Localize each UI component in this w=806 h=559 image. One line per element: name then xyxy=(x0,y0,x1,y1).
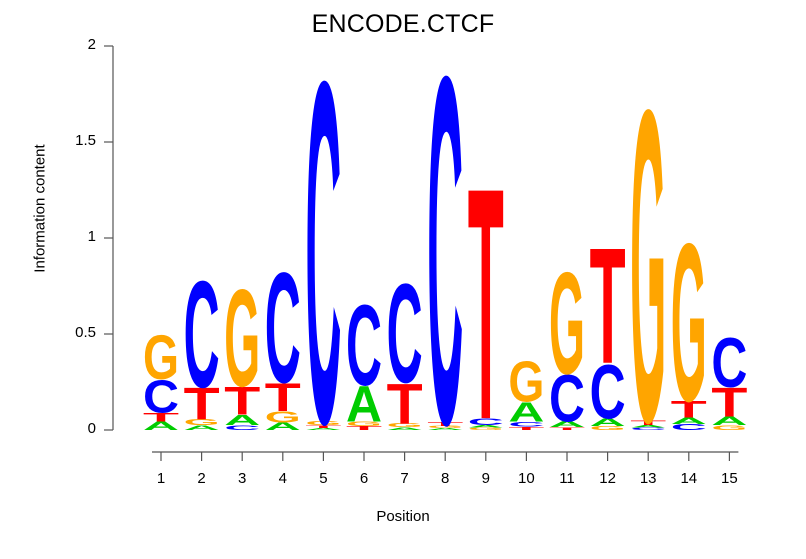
svg-text:G: G xyxy=(224,261,260,416)
svg-text:T: T xyxy=(468,119,504,489)
svg-text:G: G xyxy=(549,243,585,405)
logo-letter-c: C xyxy=(265,240,301,415)
y-tick-label: 1 xyxy=(50,228,96,245)
x-tick-label: 9 xyxy=(466,470,506,487)
logo-letter-g: G xyxy=(143,322,179,393)
logo-letter-t: T xyxy=(590,213,626,398)
svg-text:C: C xyxy=(346,281,382,409)
x-tick-label: 13 xyxy=(628,470,668,487)
logo-letter-g: G xyxy=(630,18,666,515)
svg-text:C: C xyxy=(305,0,341,525)
x-tick-label: 1 xyxy=(141,470,181,487)
x-tick-label: 10 xyxy=(506,470,546,487)
logo-letter-c: C xyxy=(346,281,382,409)
x-tick-label: 5 xyxy=(303,470,343,487)
logo-letter-g: G xyxy=(671,196,707,448)
x-tick-label: 2 xyxy=(182,470,222,487)
svg-text:C: C xyxy=(387,254,423,412)
x-tick-label: 12 xyxy=(588,470,628,487)
y-tick-label: 2 xyxy=(50,36,96,53)
svg-text:C: C xyxy=(265,240,301,415)
logo-stacks: ATCGAGTCCATGAGTCATGCTGACAGTCAGTCGACTTCAG… xyxy=(143,0,747,527)
svg-text:C: C xyxy=(184,251,220,420)
logo-letter-g: G xyxy=(224,261,260,416)
x-tick-label: 3 xyxy=(222,470,262,487)
logo-letter-g: G xyxy=(549,243,585,405)
logo-letter-c: C xyxy=(305,0,341,525)
x-tick-label: 7 xyxy=(385,470,425,487)
y-tick-label: 0 xyxy=(50,420,96,437)
svg-text:G: G xyxy=(671,196,707,448)
svg-text:G: G xyxy=(630,18,666,515)
x-tick-label: 8 xyxy=(425,470,465,487)
logo-letter-c: C xyxy=(387,254,423,412)
logo-letter-c: C xyxy=(184,251,220,420)
logo-letter-c: C xyxy=(427,0,463,527)
x-tick-label: 15 xyxy=(709,470,749,487)
svg-text:T: T xyxy=(590,213,626,398)
logo-letter-c: C xyxy=(711,324,747,402)
svg-text:G: G xyxy=(143,322,179,393)
x-tick-label: 6 xyxy=(344,470,384,487)
x-tick-label: 4 xyxy=(263,470,303,487)
svg-text:C: C xyxy=(427,0,463,527)
x-tick-label: 11 xyxy=(547,470,587,487)
logo-letter-g: G xyxy=(508,350,544,414)
svg-text:C: C xyxy=(711,324,747,402)
y-tick-label: 1.5 xyxy=(50,132,96,149)
x-tick-label: 14 xyxy=(669,470,709,487)
logo-letter-t: T xyxy=(468,119,504,489)
y-tick-label: 0.5 xyxy=(50,324,96,341)
svg-text:G: G xyxy=(508,350,544,414)
